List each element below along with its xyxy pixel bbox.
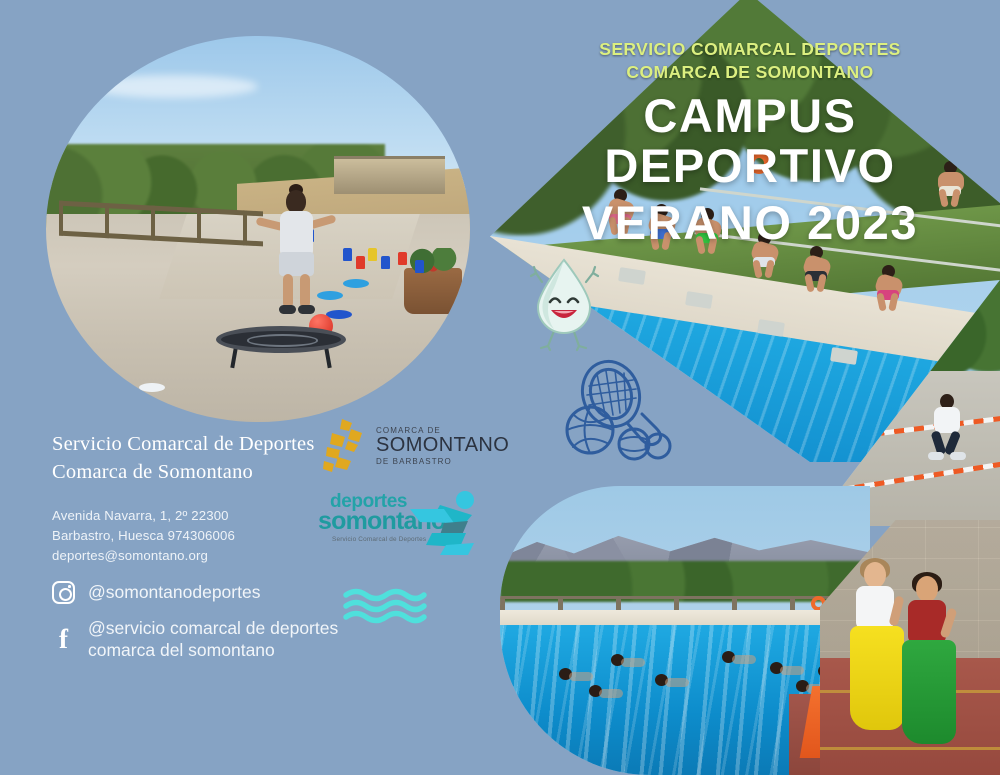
cone bbox=[415, 260, 424, 273]
cone bbox=[398, 252, 407, 265]
cone bbox=[381, 256, 390, 269]
child-swimming bbox=[611, 654, 645, 670]
kicker-line-2: COMARCA DE SOMONTANO bbox=[500, 61, 1000, 84]
headline-block: SERVICIO COMARCAL DEPORTES COMARCA DE SO… bbox=[500, 38, 1000, 248]
child-swimming bbox=[589, 685, 623, 701]
title-line-1: CAMPUS DEPORTIVO bbox=[500, 91, 1000, 191]
child-diving bbox=[872, 265, 906, 311]
instagram-handle[interactable]: @somontanodeportes bbox=[88, 581, 260, 603]
building bbox=[334, 156, 444, 195]
poster-canvas: SERVICIO COMARCAL DEPORTES COMARCA DE SO… bbox=[0, 0, 1000, 775]
comarca-logo-line-2: SOMONTANO bbox=[376, 435, 509, 456]
child-swimming bbox=[770, 662, 804, 678]
photo-trampoline bbox=[46, 36, 470, 422]
flower-planter bbox=[404, 268, 462, 314]
child-diving bbox=[800, 246, 834, 292]
mini-trampoline bbox=[216, 326, 346, 368]
child-sack-race bbox=[900, 576, 964, 746]
court-line bbox=[820, 747, 1000, 750]
child-swimming bbox=[559, 668, 593, 684]
kicker-line-1: SERVICIO COMARCAL DEPORTES bbox=[500, 38, 1000, 61]
instagram-icon[interactable] bbox=[52, 581, 75, 604]
sports-equipment-icon bbox=[556, 358, 674, 462]
comarca-mark-icon bbox=[318, 417, 370, 475]
child-running bbox=[926, 394, 966, 460]
facebook-handle[interactable]: @servicio comarcal de deportes comarca d… bbox=[88, 617, 338, 662]
facebook-handle-line-1: @servicio comarcal de deportes bbox=[88, 617, 338, 639]
facebook-row[interactable]: f @servicio comarcal de deportes comarca… bbox=[52, 617, 382, 662]
title-line-2: VERANO 2023 bbox=[500, 198, 1000, 248]
athlete-figure-icon bbox=[410, 489, 486, 555]
cone bbox=[343, 248, 352, 261]
facebook-icon[interactable]: f bbox=[52, 627, 75, 651]
logo-comarca-somontano[interactable]: COMARCA DE SOMONTANO DE BARBASTRO bbox=[318, 415, 478, 477]
instagram-row[interactable]: @somontanodeportes bbox=[52, 581, 382, 604]
photo-swimming bbox=[500, 486, 870, 775]
child-swimming bbox=[722, 651, 756, 667]
child-jumping bbox=[258, 190, 334, 320]
cone bbox=[368, 248, 377, 261]
facebook-handle-line-2: comarca del somontano bbox=[88, 639, 338, 661]
cone bbox=[356, 256, 365, 269]
cloud bbox=[88, 75, 258, 98]
logo-deportes-somontano[interactable]: deportes somontano Servicio Comarcal de … bbox=[318, 493, 486, 559]
water-drop-mascot-icon bbox=[516, 252, 612, 352]
child-swimming bbox=[655, 674, 689, 690]
comarca-logo-line-3: DE BARBASTRO bbox=[376, 457, 509, 466]
comarca-wordmark: COMARCA DE SOMONTANO DE BARBASTRO bbox=[376, 426, 509, 465]
